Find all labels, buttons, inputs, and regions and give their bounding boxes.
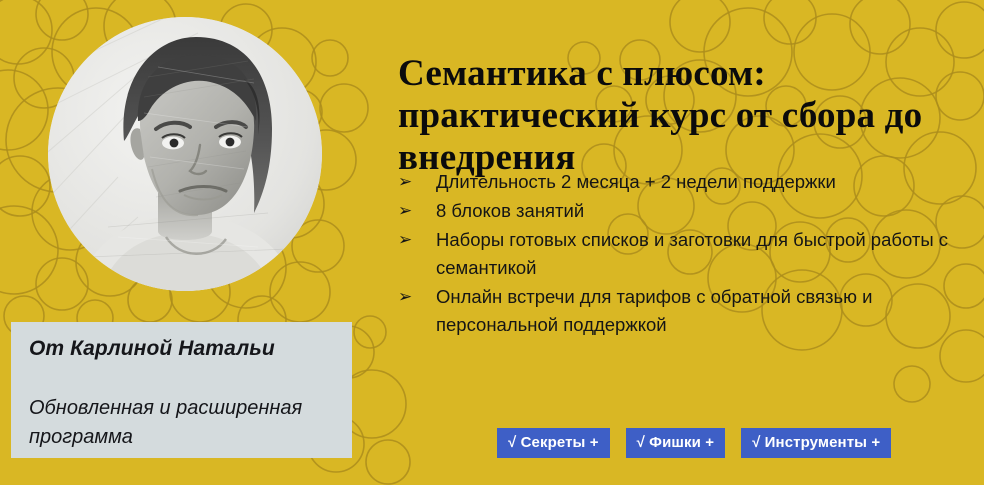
author-name: От Карлиной Натальи bbox=[29, 337, 275, 361]
list-item-label: Наборы готовых списков и заготовки для б… bbox=[436, 229, 948, 278]
list-item-label: Онлайн встречи для тарифов с обратной св… bbox=[436, 286, 872, 335]
slide-title: Семантика с плюсом: практический курс от… bbox=[398, 53, 954, 179]
author-portrait bbox=[48, 17, 322, 291]
author-note: Обновленная и расширенная программа bbox=[29, 394, 341, 452]
list-item-label: 8 блоков занятий bbox=[436, 200, 584, 221]
list-item: ➢ Наборы готовых списков и заготовки для… bbox=[398, 226, 950, 282]
badge-secrets[interactable]: √ Секреты + bbox=[497, 428, 610, 458]
arrow-bullet-icon: ➢ bbox=[398, 197, 418, 225]
badge-tools[interactable]: √ Инструменты + bbox=[741, 428, 891, 458]
arrow-bullet-icon: ➢ bbox=[398, 283, 418, 311]
promo-slide: Семантика с плюсом: практический курс от… bbox=[0, 0, 984, 485]
list-item: ➢ Длительность 2 месяца + 2 недели подде… bbox=[398, 168, 950, 196]
feature-badge-row: √ Секреты + √ Фишки + √ Инструменты + bbox=[497, 428, 891, 458]
badge-tricks[interactable]: √ Фишки + bbox=[626, 428, 725, 458]
arrow-bullet-icon: ➢ bbox=[398, 226, 418, 254]
list-item: ➢ Онлайн встречи для тарифов с обратной … bbox=[398, 283, 950, 339]
list-item: ➢ 8 блоков занятий bbox=[398, 197, 950, 225]
arrow-bullet-icon: ➢ bbox=[398, 168, 418, 196]
author-card: От Карлиной Натальи Обновленная и расшир… bbox=[11, 322, 352, 458]
list-item-label: Длительность 2 месяца + 2 недели поддерж… bbox=[436, 171, 836, 192]
feature-bullet-list: ➢ Длительность 2 месяца + 2 недели подде… bbox=[398, 168, 950, 340]
